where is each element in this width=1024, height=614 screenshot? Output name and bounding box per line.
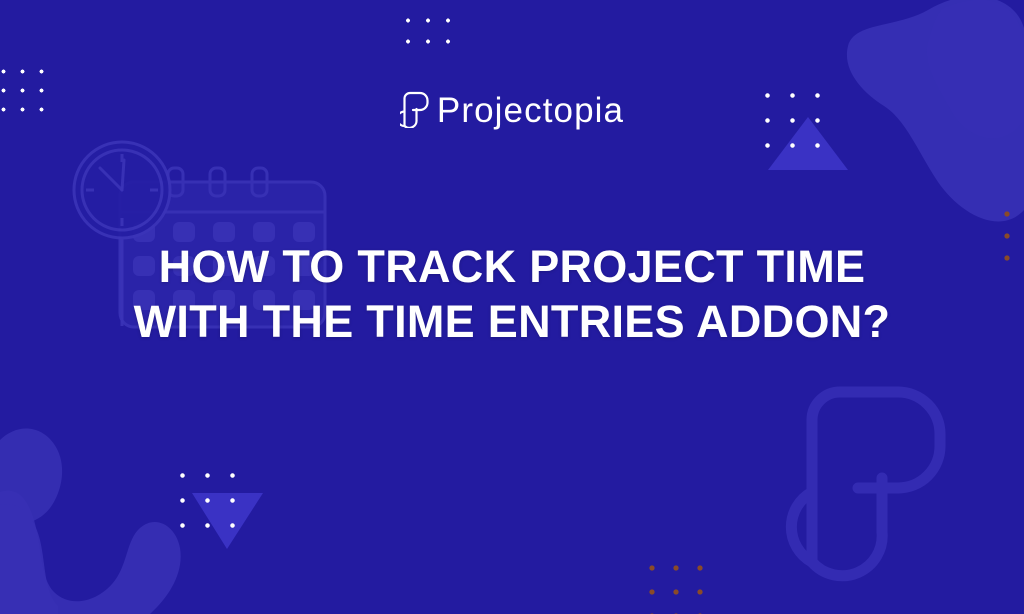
article-hero-banner: Projectopia HOW TO TRACK PROJECT TIME WI… bbox=[0, 0, 1024, 614]
brand-logo: Projectopia bbox=[0, 90, 1024, 130]
brand-wordmark: Projectopia bbox=[437, 93, 624, 128]
page-title: HOW TO TRACK PROJECT TIME WITH THE TIME … bbox=[0, 240, 1024, 350]
banner-content: Projectopia HOW TO TRACK PROJECT TIME WI… bbox=[0, 0, 1024, 614]
projectopia-p-logo-icon bbox=[400, 90, 430, 128]
